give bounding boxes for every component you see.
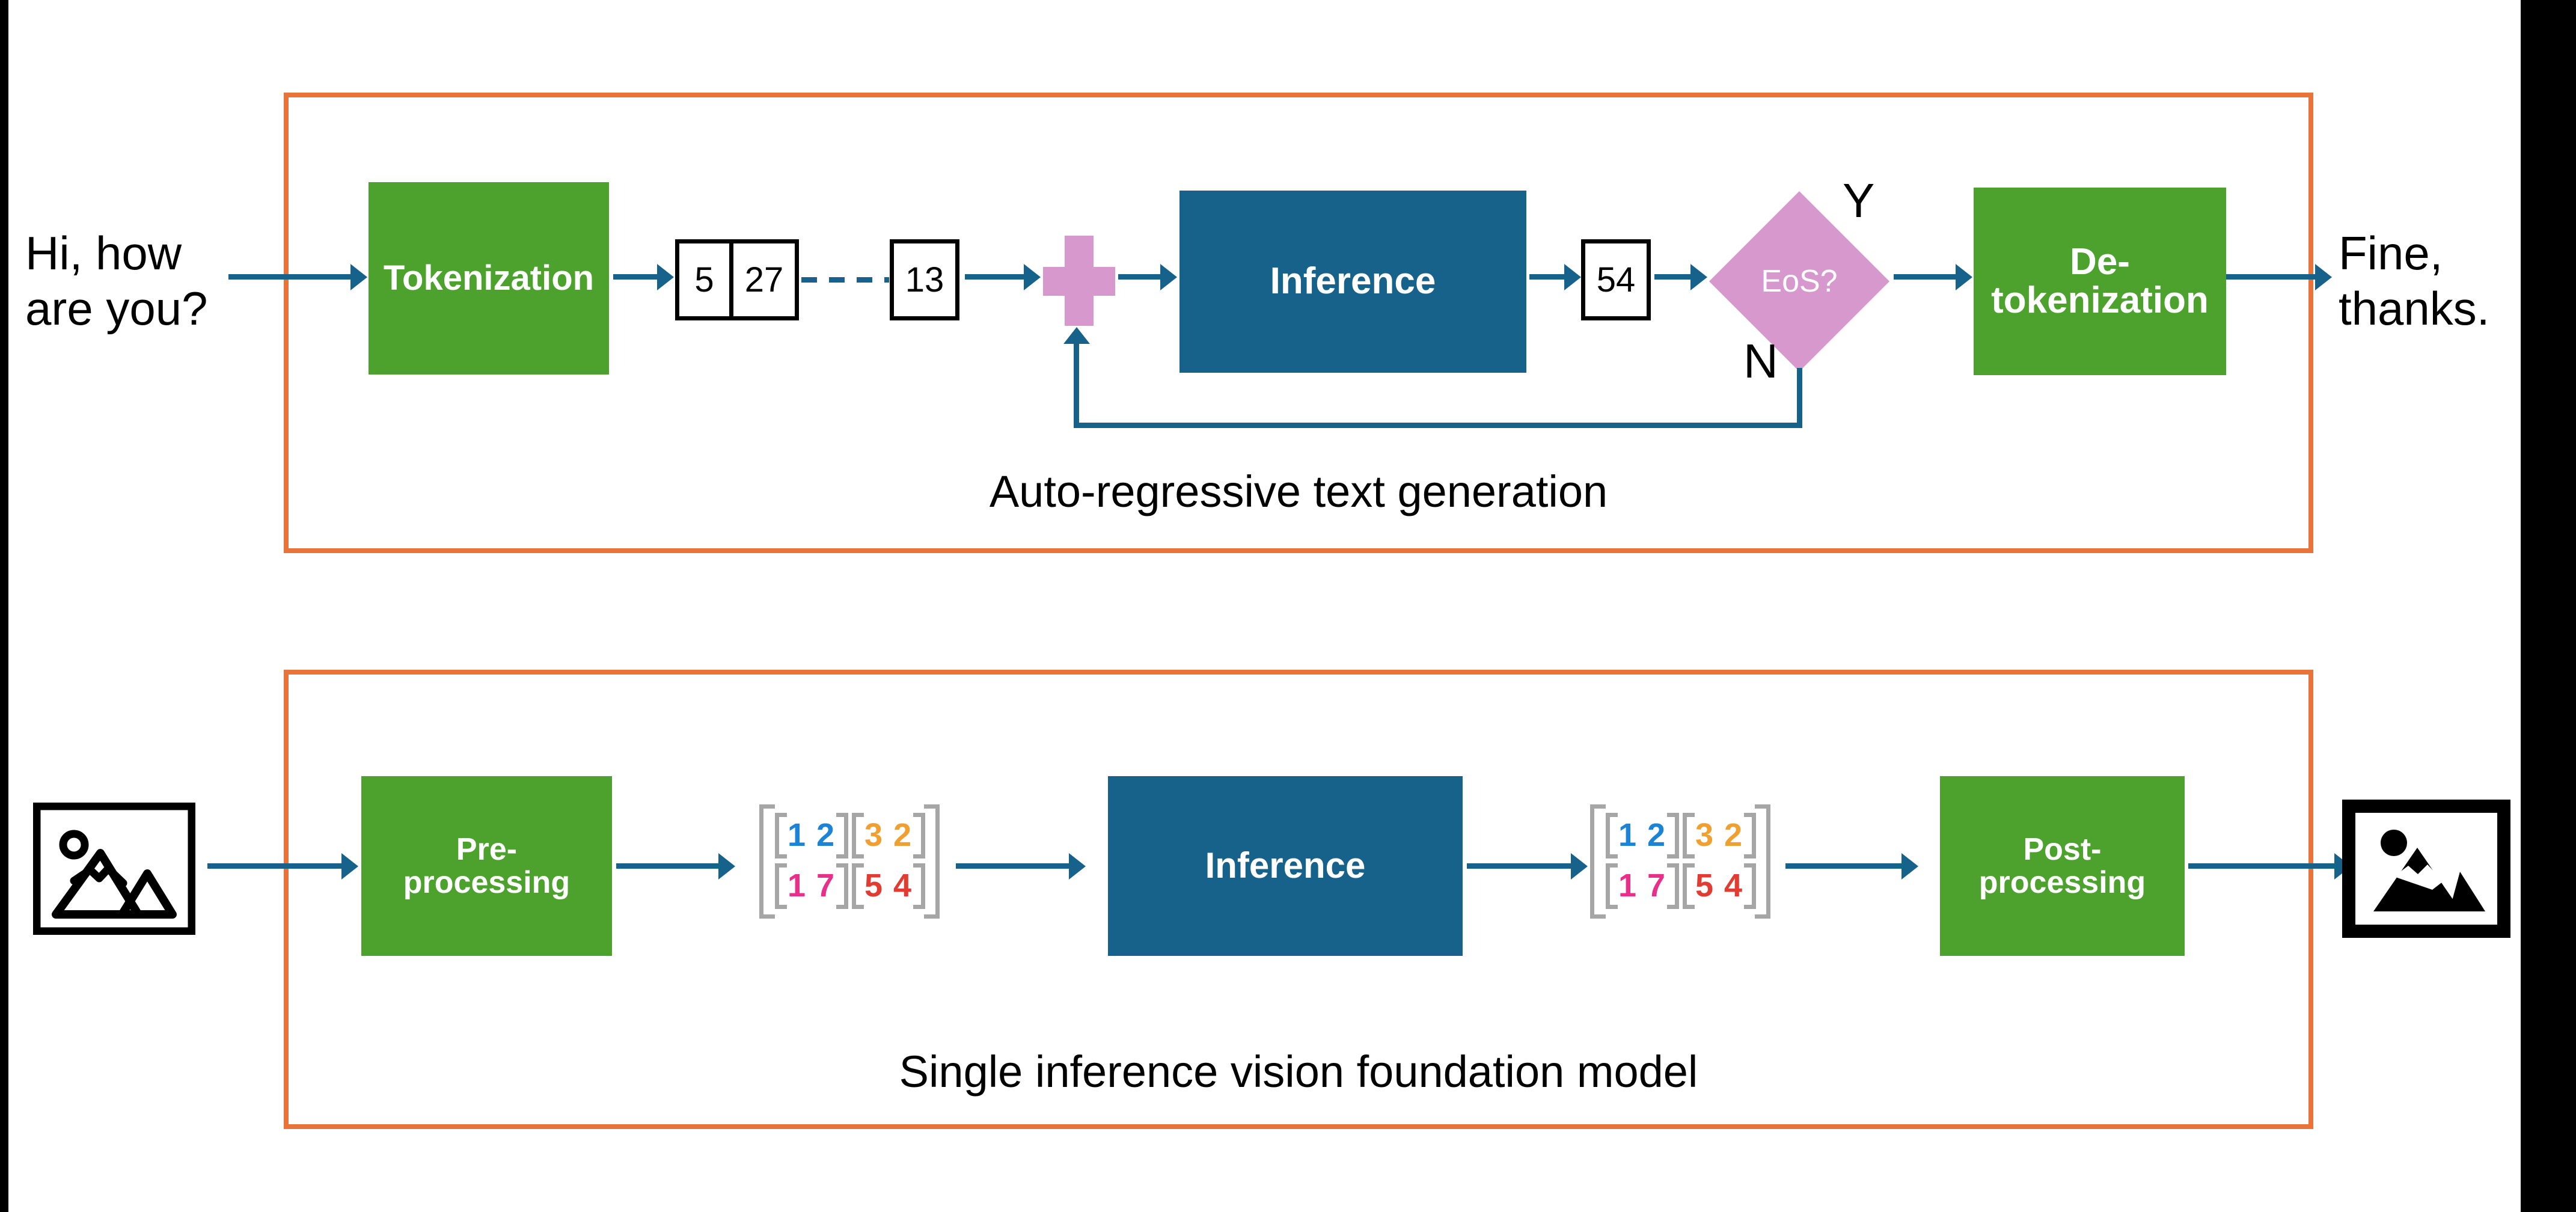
output-token-box: 54 <box>1581 239 1651 320</box>
detokenization-block[interactable]: De- tokenization <box>1974 188 2226 375</box>
arrow-preprocessing-to-tensor <box>616 863 720 869</box>
matrix-value: 1 <box>1614 867 1641 904</box>
arrow-tokenization-to-tokens <box>613 274 658 280</box>
token-box-1: 5 <box>675 239 733 320</box>
output-response-text: Fine, thanks. <box>2339 225 2537 336</box>
matrix-value: 7 <box>812 867 839 904</box>
image-filled-icon <box>2342 800 2510 938</box>
token-value-2: 27 <box>745 260 784 300</box>
plus-icon-vertical <box>1065 236 1094 326</box>
left-letterbox-bar <box>0 0 8 1212</box>
arrow-tensor-out-to-postprocessing <box>1785 863 1903 869</box>
arrow-merge-to-inference <box>1118 274 1161 280</box>
matrix-value: 2 <box>812 816 839 854</box>
preprocessing-block[interactable]: Pre- processing <box>361 776 612 956</box>
arrow-tensor-to-inference <box>956 863 1070 869</box>
matrix-value: 5 <box>1691 867 1718 904</box>
output-tensor-matrix: 12321754 <box>1590 804 1770 919</box>
arrow-postprocessing-to-output-image <box>2188 863 2336 869</box>
detokenization-label: De- tokenization <box>1991 243 2209 320</box>
matrix-value: 3 <box>860 816 887 854</box>
matrix-value: 7 <box>1643 867 1669 904</box>
arrow-inference-to-output-token <box>1529 274 1565 280</box>
matrix-outer-bracket-left <box>1590 804 1606 919</box>
image-outline-icon <box>33 803 195 935</box>
input-prompt-line1: Hi, how <box>25 227 182 280</box>
tokenization-label: Tokenization <box>384 260 594 296</box>
matrix-value: 1 <box>783 816 810 854</box>
output-response-line1: Fine, <box>2339 227 2443 280</box>
arrow-detokenization-to-output <box>2226 274 2316 280</box>
input-tensor-matrix: 12321754 <box>759 804 940 919</box>
matrix-value: 2 <box>1643 816 1669 854</box>
matrix-value: 1 <box>1614 816 1641 854</box>
arrow-image-to-preprocessing <box>207 863 343 869</box>
inference-label-vision: Inference <box>1205 847 1366 884</box>
output-token-value: 54 <box>1597 260 1636 300</box>
arrow-input-to-tokenization <box>228 274 352 280</box>
matrix-value: 2 <box>1720 816 1746 854</box>
postprocessing-block[interactable]: Post- processing <box>1940 776 2185 956</box>
branch-label-yes: Y <box>1843 173 1874 228</box>
input-prompt-line2: are you? <box>25 282 208 335</box>
token-value-3: 13 <box>905 260 944 300</box>
caption-vision-pipeline: Single inference vision foundation model <box>284 1046 2313 1097</box>
inference-label-text: Inference <box>1270 262 1436 301</box>
tokenization-block[interactable]: Tokenization <box>369 182 609 375</box>
matrix-value: 4 <box>889 867 916 904</box>
inference-block-text[interactable]: Inference <box>1179 191 1526 373</box>
arrow-tokens-to-merge <box>965 274 1025 280</box>
feedback-segment-down <box>1797 368 1802 428</box>
output-response-line2: thanks. <box>2339 282 2489 335</box>
matrix-outer-bracket-left <box>759 804 775 919</box>
branch-label-no: N <box>1743 334 1778 389</box>
arrow-inference-to-tensor-out <box>1467 863 1572 869</box>
matrix-outer-bracket-right <box>1755 804 1770 919</box>
matrix-outer-bracket-right <box>924 804 940 919</box>
inference-block-vision[interactable]: Inference <box>1108 776 1463 956</box>
matrix-value: 1 <box>783 867 810 904</box>
arrow-token-to-eos <box>1654 274 1692 280</box>
token-sequence-ellipsis <box>801 277 889 283</box>
plus-icon <box>1043 236 1115 326</box>
diagram-canvas: Hi, how are you? Tokenization 5 27 13 In… <box>0 0 2576 1212</box>
token-value-1: 5 <box>694 260 714 300</box>
matrix-value: 5 <box>860 867 887 904</box>
token-box-3: 13 <box>890 239 959 320</box>
arrow-eos-yes-to-detokenization <box>1894 274 1957 280</box>
feedback-segment-horizontal <box>1074 423 1802 428</box>
input-prompt-text: Hi, how are you? <box>25 225 266 336</box>
caption-text-pipeline: Auto-regressive text generation <box>284 466 2313 517</box>
matrix-value: 2 <box>889 816 916 854</box>
postprocessing-label: Post- processing <box>1979 833 2146 898</box>
feedback-segment-up-to-merge <box>1074 343 1079 427</box>
token-box-2: 27 <box>729 239 799 320</box>
matrix-value: 4 <box>1720 867 1746 904</box>
right-letterbox-bar <box>2521 0 2576 1212</box>
matrix-value: 3 <box>1691 816 1718 854</box>
preprocessing-label: Pre- processing <box>403 833 570 898</box>
